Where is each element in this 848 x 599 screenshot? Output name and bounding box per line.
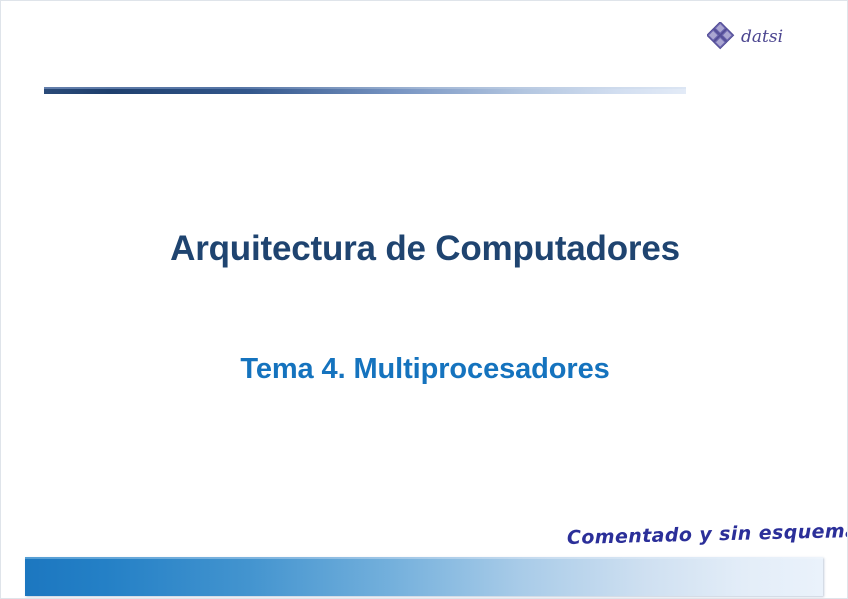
footer-gradient-bar [25, 557, 823, 596]
title-slide: datsi Arquitectura de Computadores Tema … [0, 0, 848, 599]
handwritten-annotation: Comentado y sin esquemas [567, 521, 825, 549]
horizontal-rule-highlight [44, 87, 686, 89]
footer-bar-highlight [25, 557, 823, 559]
diamond-cluster-icon [707, 22, 737, 50]
slide-subtitle: Tema 4. Multiprocesadores [1, 353, 848, 386]
datsi-logo: datsi [707, 21, 789, 51]
slide-title: Arquitectura de Computadores [1, 229, 848, 269]
datsi-wordmark-text: datsi [741, 27, 783, 47]
datsi-wordmark: datsi [740, 23, 788, 49]
vertical-rule-decoration [62, 29, 67, 221]
